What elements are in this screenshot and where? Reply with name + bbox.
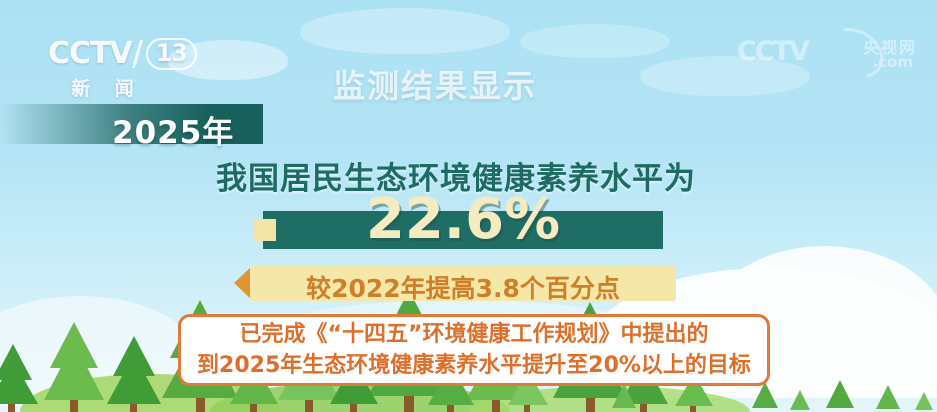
cctv-logo-text: CCTV bbox=[48, 36, 132, 71]
page-title: 监测结果显示 bbox=[333, 61, 537, 107]
year-label: 2025年 bbox=[112, 107, 234, 152]
comparison-text: 较2022年提高3.8个百分点 bbox=[250, 269, 676, 305]
watermark-com-text: .com bbox=[872, 53, 913, 71]
goal-callout-box: 已完成《“十四五”环境健康工作规划》中提出的 到2025年生态环境健康素养水平提… bbox=[178, 314, 770, 386]
cloud-shape bbox=[520, 24, 670, 58]
cloud-shape bbox=[300, 8, 510, 54]
cctv-channel-number: 13 bbox=[146, 38, 197, 70]
broadcast-graphic-stage: CCTV 13 新 闻 CCTV 央视网 .com 监测结果显示 2025年 我… bbox=[0, 0, 937, 412]
goal-line-2: 到2025年生态环境健康素养水平提升至20%以上的目标 bbox=[197, 350, 751, 381]
watermark-cctv-text: CCTV bbox=[737, 36, 808, 67]
logo-slash-divider bbox=[132, 40, 143, 68]
cctv-channel-logo: CCTV 13 新 闻 bbox=[48, 36, 218, 98]
cctv-news-label: 新 闻 bbox=[48, 74, 166, 101]
cctv-logo-mark: CCTV 13 bbox=[48, 36, 218, 71]
cctv-dot-com-watermark: CCTV 央视网 .com bbox=[737, 28, 919, 68]
goal-line-1: 已完成《“十四五”环境健康工作规划》中提出的 bbox=[240, 319, 709, 350]
highlight-value: 22.6% bbox=[263, 191, 663, 249]
